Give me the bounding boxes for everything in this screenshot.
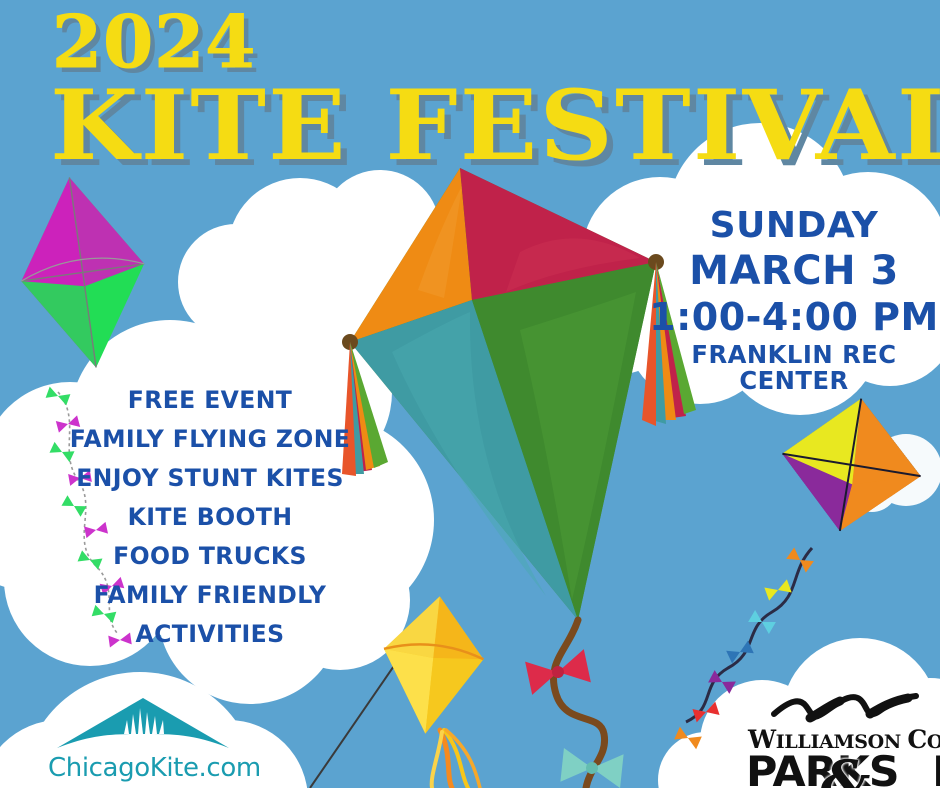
brush-stroke-w-icon: [766, 692, 926, 726]
event-details: SUNDAY MARCH 3 1:00-4:00 PM FRANKLIN REC…: [648, 208, 940, 399]
kite-main: [342, 168, 696, 788]
ampersand-mark: &: [821, 753, 870, 788]
feature-list: FREE EVENT FAMILY FLYING ZONE ENJOY STUN…: [40, 388, 380, 661]
tail-bow-teal: [560, 748, 623, 788]
event-date: MARCH 3: [648, 251, 940, 292]
parks-rec-wordmark: PARKS--REC &: [746, 751, 940, 788]
kite-festival-poster: 2024 KITE FESTIVAL SUNDAY MARCH 3 1:00-4…: [0, 0, 940, 788]
chicagokite-delta-icon: [53, 694, 233, 752]
event-day: SUNDAY: [648, 208, 940, 245]
chicagokite-logo[interactable]: ChicagoKite.com: [48, 694, 238, 783]
kite-right: [771, 387, 932, 543]
feature-item: FAMILY FLYING ZONE: [43, 427, 376, 451]
kite-yellow-streamers: [432, 730, 480, 788]
feature-item: FOOD TRUCKS: [43, 544, 376, 568]
feature-item: FREE EVENT: [43, 388, 376, 412]
kite-top-left: [8, 169, 158, 376]
kite-main-tail: [525, 620, 623, 788]
feature-item: ENJOY STUNT KITES: [43, 466, 376, 490]
feature-item: ACTIVITIES: [43, 622, 376, 646]
chicagokite-wordmark: ChicagoKite.com: [48, 753, 238, 783]
feature-item: KITE BOOTH: [43, 505, 376, 529]
parks-rec-logo[interactable]: WILLIAMSON COUNTY PARKS--REC &: [748, 692, 940, 788]
rec-word: REC: [932, 747, 940, 788]
feature-item: FAMILY FRIENDLY: [43, 583, 376, 607]
event-venue: FRANKLIN REC CENTER: [652, 342, 935, 393]
event-time: 1:00-4:00 PM: [648, 298, 940, 337]
